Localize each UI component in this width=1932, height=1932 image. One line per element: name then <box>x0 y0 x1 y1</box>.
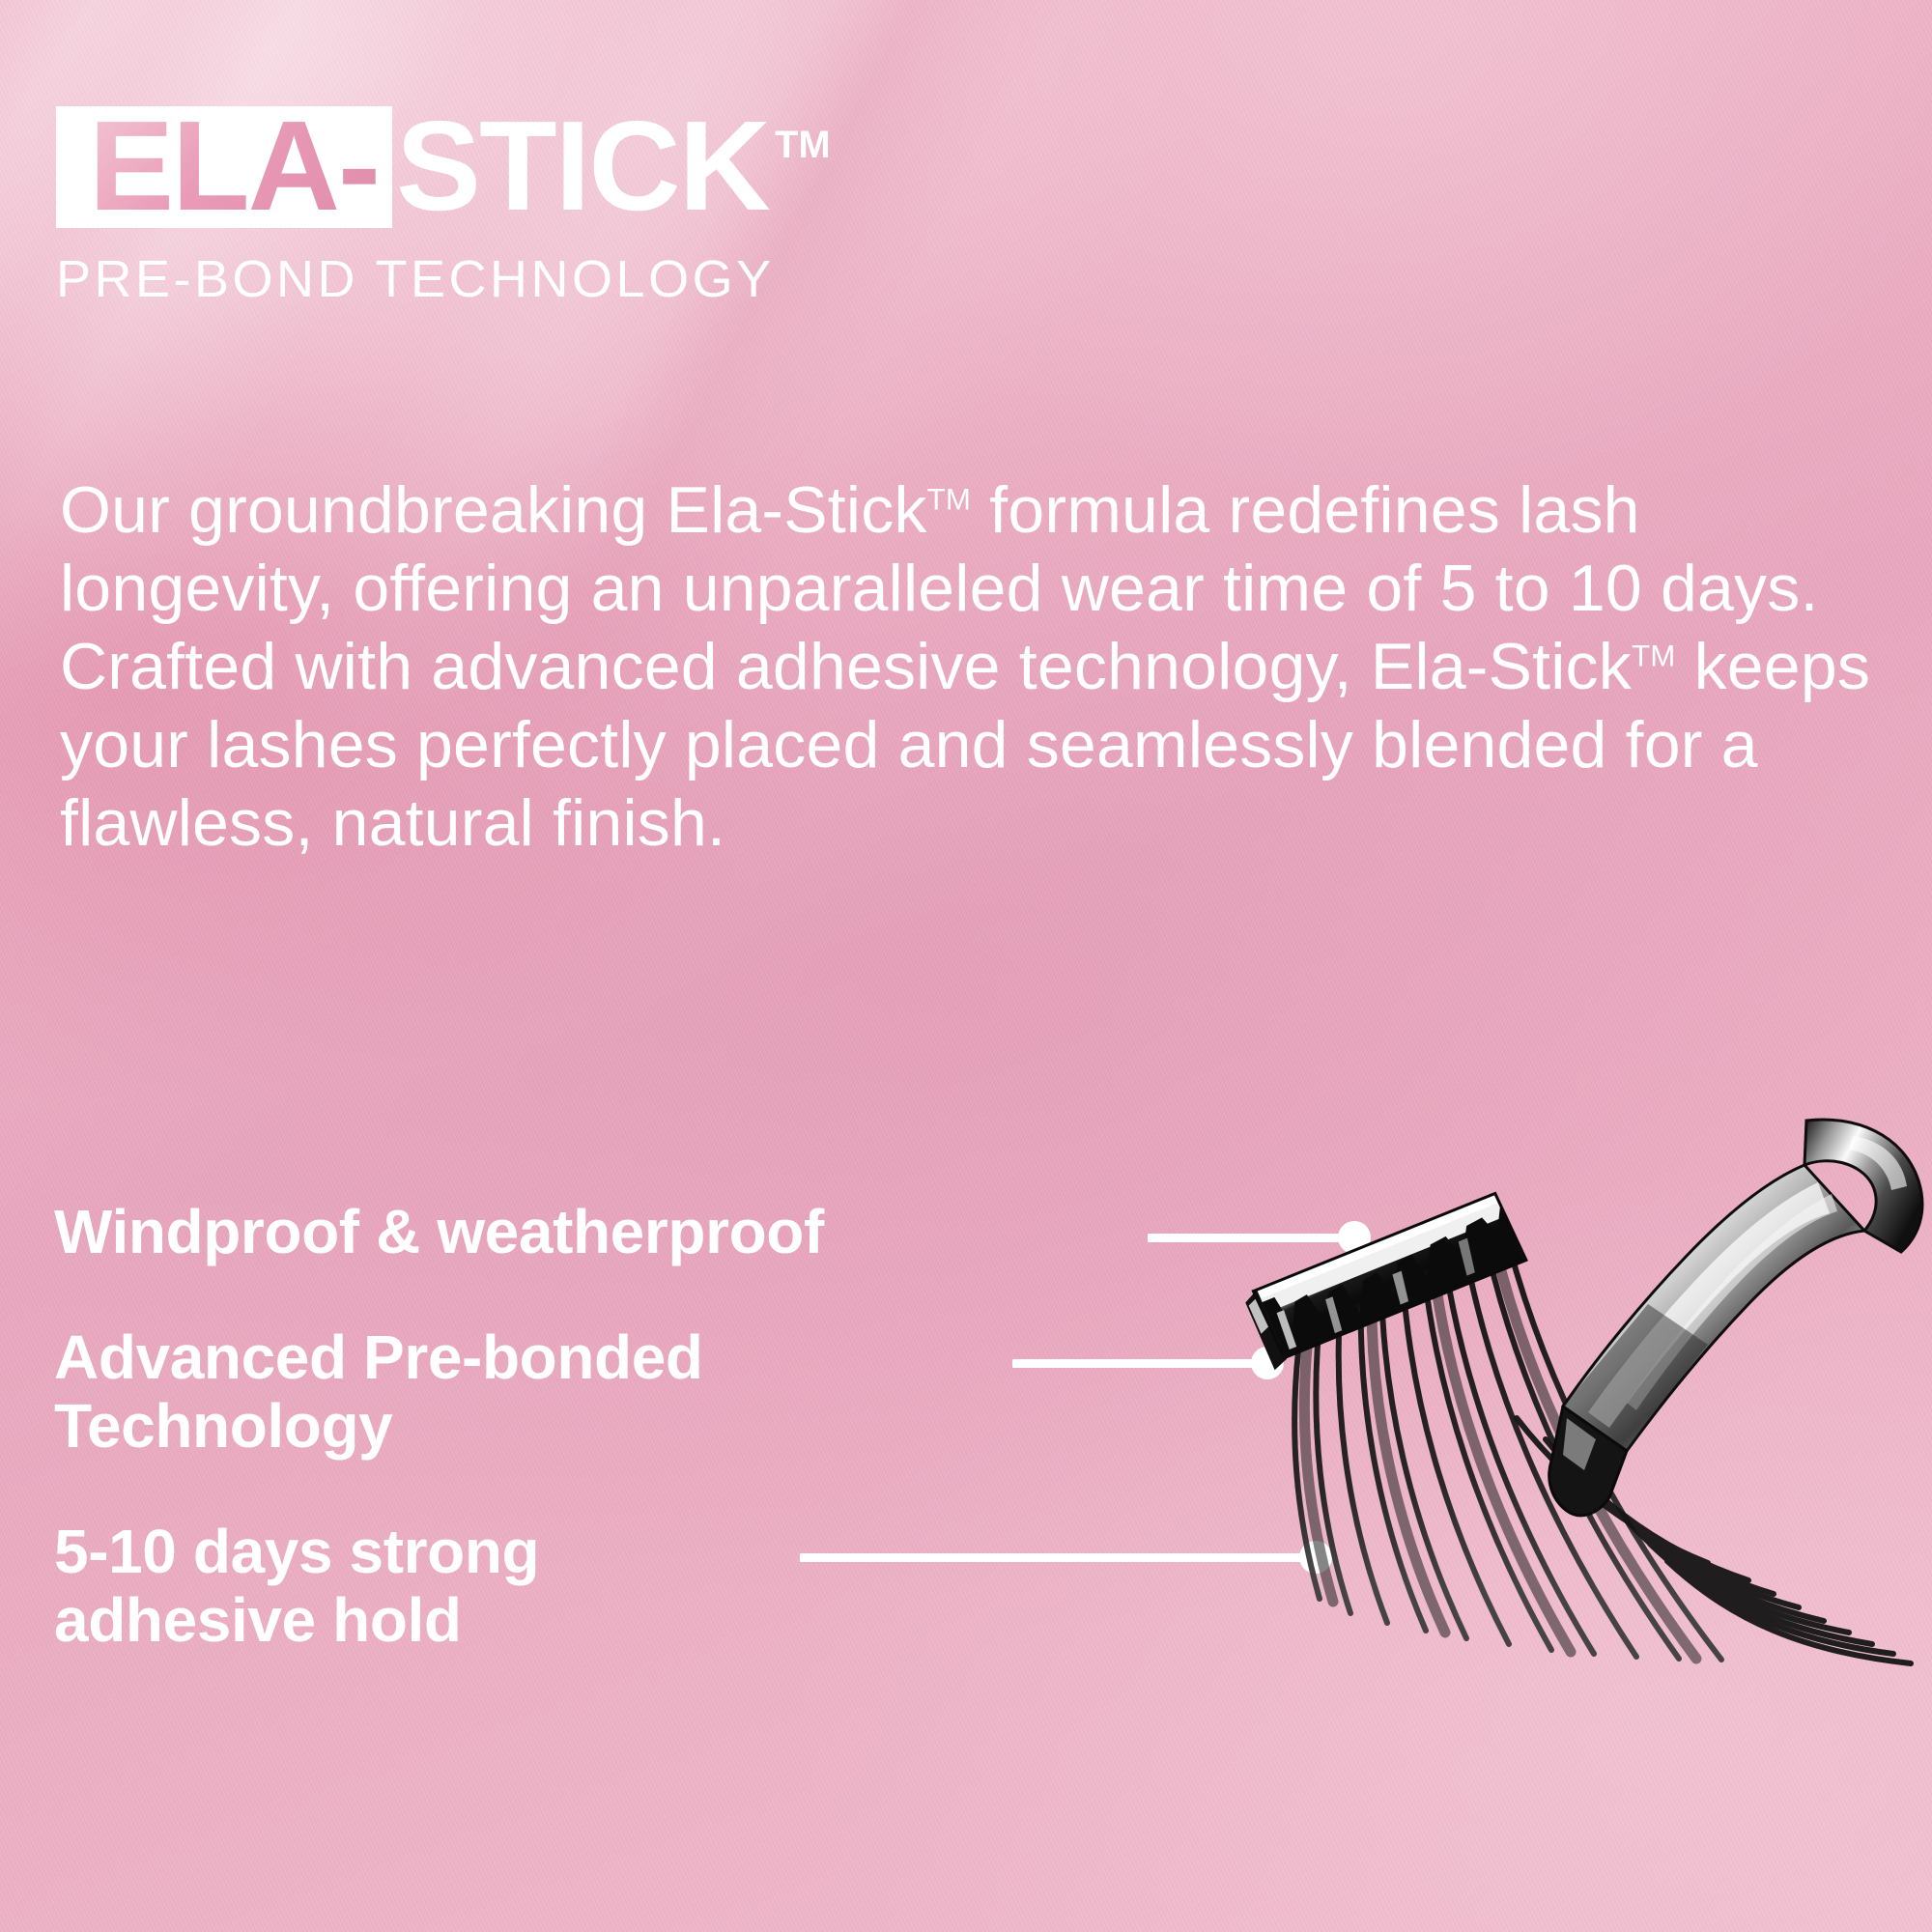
logo-wordmark-row: ELA- STICK TM <box>56 106 831 228</box>
feature-label-line1: 5-10 days strong <box>54 1517 539 1586</box>
connector-line <box>1012 1359 1254 1368</box>
feature-label: Advanced Pre-bondedTechnology <box>54 1323 703 1460</box>
logo-stick-text: STICK <box>396 114 769 218</box>
feature-label-line1: Advanced Pre-bonded <box>54 1322 703 1392</box>
brand-logo-block: ELA- STICK TM PRE-BOND TECHNOLOGY <box>56 106 831 309</box>
paragraph-part-1: Our groundbreaking Ela-Stick <box>60 473 927 547</box>
feature-label: Windproof & weatherproof <box>54 1198 824 1265</box>
feature-label-line2: adhesive hold <box>54 1585 462 1655</box>
logo-ela-text: ELA- <box>89 114 379 218</box>
trademark-icon: TM <box>775 124 831 167</box>
logo-ela-box: ELA- <box>56 106 392 228</box>
brand-subtitle: PRE-BOND TECHNOLOGY <box>56 249 831 309</box>
feature-label-line2: Technology <box>54 1391 392 1461</box>
description-paragraph: Our groundbreaking Ela-StickTM formula r… <box>60 471 1886 863</box>
promo-canvas: ELA- STICK TM PRE-BOND TECHNOLOGY Our gr… <box>0 0 1932 1932</box>
feature-label: 5-10 days strongadhesive hold <box>54 1518 539 1654</box>
trademark-icon-inline-2: TM <box>1632 639 1676 672</box>
trademark-icon-inline-1: TM <box>927 482 972 516</box>
product-image-lash-cluster <box>1227 1111 1932 1932</box>
feature-label-line1: Windproof & weatherproof <box>54 1197 824 1266</box>
feature-item-adhesive-hold: 5-10 days strongadhesive hold <box>54 1518 1406 1654</box>
feature-list: Windproof & weatherproof Advanced Pre-bo… <box>54 1198 1406 1712</box>
feature-item-prebonded: Advanced Pre-bondedTechnology <box>54 1323 1406 1460</box>
feature-item-windproof: Windproof & weatherproof <box>54 1198 1406 1265</box>
